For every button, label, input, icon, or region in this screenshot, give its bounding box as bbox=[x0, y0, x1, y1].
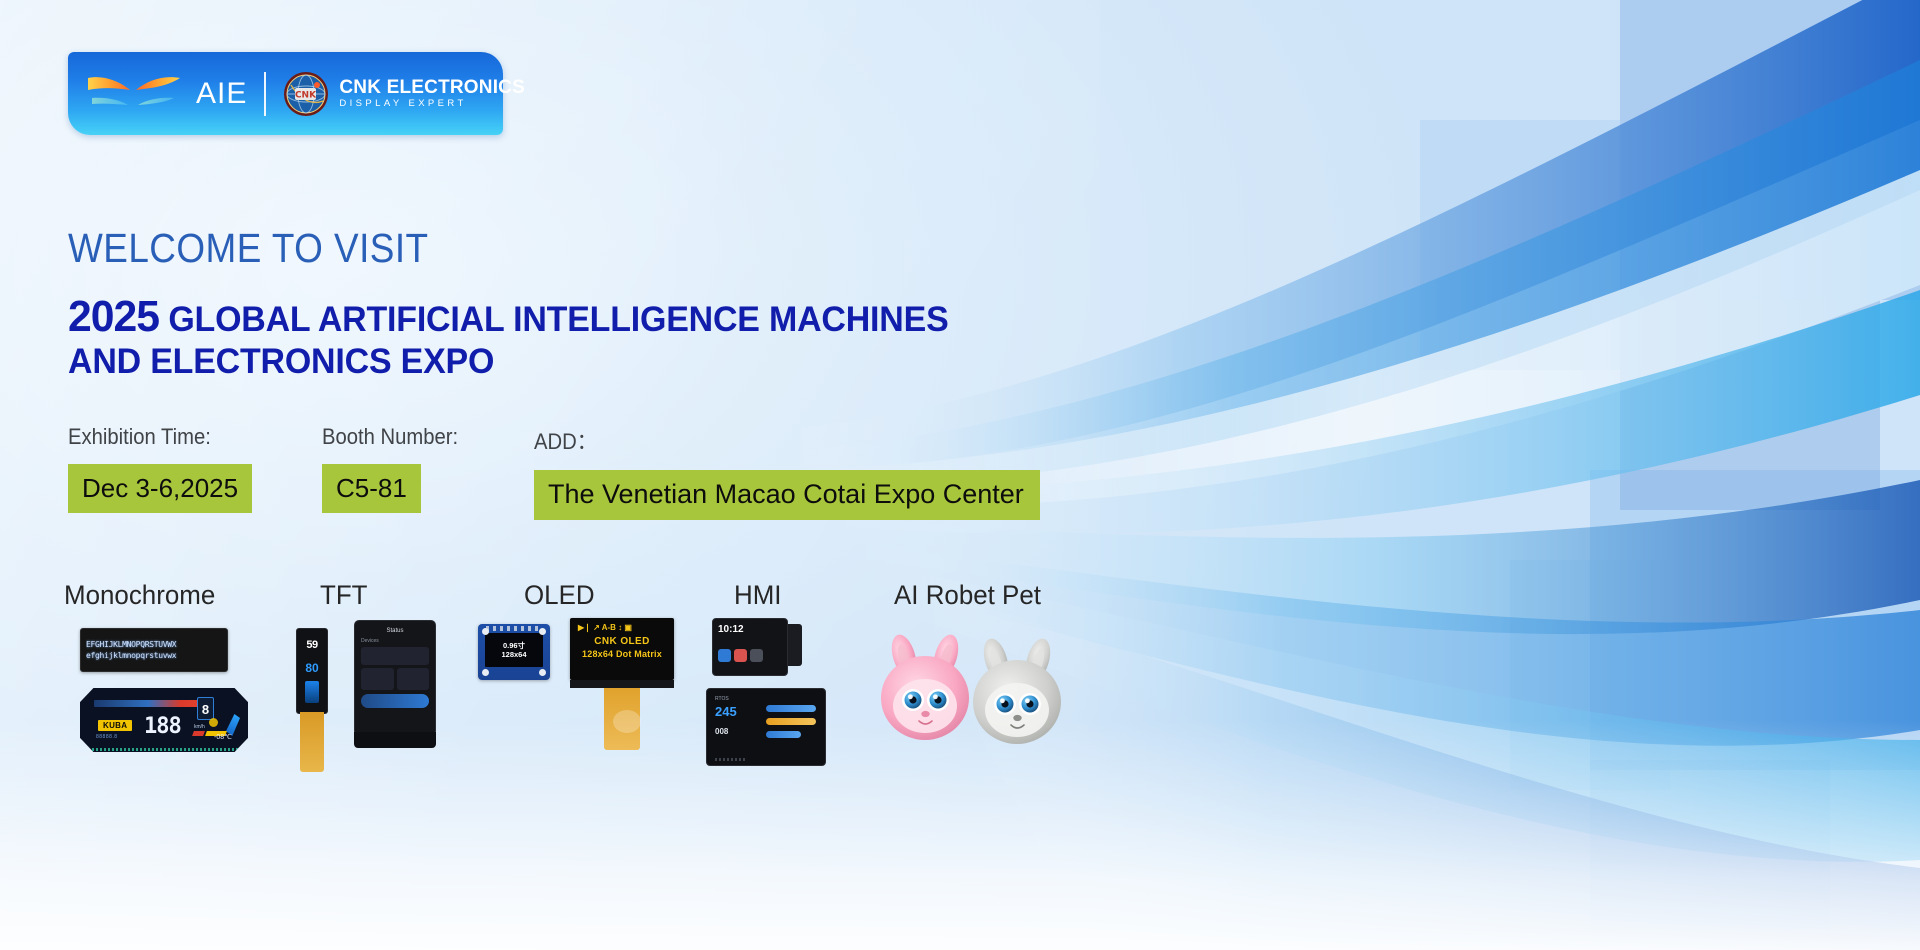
hmi-icon-row bbox=[718, 649, 782, 662]
hmi-tile-icon bbox=[718, 649, 731, 662]
cluster-tach-bar bbox=[94, 700, 214, 707]
tft-card bbox=[361, 647, 429, 665]
cnk-globe-icon: CNK bbox=[283, 71, 329, 117]
address-label: ADD： bbox=[534, 424, 999, 456]
event-title-line2: AND ELECTRONICS EXPO bbox=[68, 342, 949, 382]
hmi-clock: 10:12 bbox=[718, 624, 782, 635]
product-category-oled: OLED 0.96寸 128x64 ▶❘ ↗ A-B ↕ ▣ CNK OLED … bbox=[478, 580, 693, 611]
page-title: 2025 GLOBAL ARTIFICIAL INTELLIGENCE MACH… bbox=[68, 292, 976, 382]
tft-header: Status bbox=[361, 628, 429, 634]
event-info-row: Exhibition Time: Dec 3-6,2025 Booth Numb… bbox=[68, 424, 1088, 524]
tft-tile-2 bbox=[397, 668, 430, 690]
hmi-tile-icon bbox=[750, 649, 763, 662]
oled-mount-hole bbox=[482, 628, 489, 635]
cluster-unit: km/h bbox=[194, 724, 205, 730]
oled-mount-hole bbox=[539, 669, 546, 676]
hmi-slider-group bbox=[766, 705, 816, 744]
welcome-text: WELCOME TO VISIT bbox=[68, 225, 429, 272]
tft-bar-graphic bbox=[305, 681, 319, 703]
product-label-tft: TFT bbox=[320, 580, 460, 611]
address-value: The Venetian Macao Cotai Expo Center bbox=[534, 470, 1040, 520]
oled-pin-header bbox=[486, 626, 542, 631]
company-tagline: DISPLAY EXPERT bbox=[339, 99, 525, 109]
cluster-red-bar bbox=[192, 731, 205, 736]
hmi-tile-icon bbox=[734, 649, 747, 662]
oled-resolution-text: 128x64 bbox=[501, 650, 526, 659]
product-category-hmi: HMI 10:12 RTOS 245 008 bbox=[706, 580, 866, 611]
hmi-large-panel: RTOS 245 008 bbox=[706, 688, 826, 766]
monochrome-products: EFGHIJKLMNOPQRSTUVWX efghijklmnopqrstuvw… bbox=[80, 628, 228, 672]
tft-section-label: Devices bbox=[361, 638, 429, 644]
oled-yellow-panel: ▶❘ ↗ A-B ↕ ▣ CNK OLED 128x64 Dot Matrix bbox=[570, 618, 674, 680]
hmi-panel-side bbox=[788, 624, 802, 666]
pink-robot-pet bbox=[881, 632, 969, 740]
tft-tile-grid bbox=[361, 668, 429, 690]
exhibition-time-label: Exhibition Time: bbox=[68, 424, 237, 450]
oled-yellow-bezel bbox=[570, 680, 674, 688]
oled-breakout-board: 0.96寸 128x64 bbox=[478, 624, 550, 680]
cluster-pin-row bbox=[80, 748, 248, 751]
logo-bar: AIE CNK CNK ELECTRONICS DISPLAY EXPERT bbox=[68, 52, 503, 135]
company-name: CNK ELECTRONICS bbox=[339, 78, 525, 97]
logo-divider bbox=[264, 72, 266, 116]
product-category-monochrome: Monochrome EFGHIJKLMNOPQRSTUVWX efghijkl… bbox=[64, 580, 294, 611]
cluster-temperature: -08℃ bbox=[214, 733, 232, 741]
tft-value-mid: 80 bbox=[297, 661, 327, 675]
cluster-odometer: 88888.8 bbox=[96, 734, 118, 740]
oled-blue-screen: 0.96寸 128x64 bbox=[485, 633, 543, 667]
tft-bar-display: 59 80 bbox=[296, 628, 328, 714]
product-label-hmi: HMI bbox=[734, 580, 861, 611]
cnk-text-block: CNK ELECTRONICS DISPLAY EXPERT bbox=[339, 78, 525, 109]
lcd-line-1: EFGHIJKLMNOPQRSTUVWX bbox=[86, 639, 222, 650]
product-category-ai-robot-pet: AI Robet Pet bbox=[878, 580, 1118, 611]
cluster-indicator-icon bbox=[209, 718, 218, 727]
tft-tile-1 bbox=[361, 668, 394, 690]
tft-smart-home-display: Status Devices bbox=[354, 620, 436, 736]
motorcycle-cluster-lcd: KUBA 188 km/h 88888.8 8 -08℃ bbox=[80, 688, 248, 752]
tft-value-top: 59 bbox=[297, 639, 327, 651]
info-address: ADD： The Venetian Macao Cotai Expo Cente… bbox=[534, 424, 1040, 520]
ai-robot-pets-image bbox=[878, 622, 1088, 772]
oled-mount-hole bbox=[539, 628, 546, 635]
oled-brand-text: CNK OLED bbox=[576, 635, 668, 648]
product-showcase: Monochrome EFGHIJKLMNOPQRSTUVWX efghijkl… bbox=[60, 580, 1120, 900]
tft-bar-fpc-cable bbox=[300, 712, 324, 772]
oled-spec-text: 128x64 Dot Matrix bbox=[576, 648, 668, 660]
product-category-tft: TFT 59 80 Status Devices bbox=[296, 580, 466, 611]
oled-mount-hole bbox=[482, 669, 489, 676]
cluster-speed: 188 bbox=[144, 714, 181, 739]
oled-fpc-chip bbox=[613, 710, 641, 733]
cluster-brand: KUBA bbox=[98, 720, 132, 731]
hmi-small-panel: 10:12 bbox=[712, 618, 788, 676]
product-label-ai-robot-pet: AI Robet Pet bbox=[894, 580, 1109, 611]
cluster-gear: 8 bbox=[197, 697, 214, 720]
event-title-line1: GLOBAL ARTIFICIAL INTELLIGENCE MACHINES bbox=[168, 300, 948, 339]
tft-display-base bbox=[354, 732, 436, 748]
aie-eyes-icon bbox=[84, 66, 192, 122]
banner-stage: AIE CNK CNK ELECTRONICS DISPLAY EXPERT W… bbox=[0, 0, 1920, 950]
oled-size-text: 0.96寸 bbox=[503, 641, 525, 650]
aie-wordmark: AIE bbox=[196, 77, 247, 111]
grey-robot-pet bbox=[973, 636, 1061, 744]
hmi-slider bbox=[766, 718, 816, 725]
tft-action-pill bbox=[361, 694, 429, 708]
exhibition-time-value: Dec 3-6,2025 bbox=[68, 464, 252, 513]
hmi-slider bbox=[766, 705, 816, 712]
event-year: 2025 bbox=[68, 292, 159, 341]
info-exhibition-time: Exhibition Time: Dec 3-6,2025 bbox=[68, 424, 252, 513]
oled-yellow-fpc-cable bbox=[604, 688, 640, 750]
info-booth-number: Booth Number: C5-81 bbox=[322, 424, 470, 513]
hmi-slider bbox=[766, 731, 801, 738]
product-label-monochrome: Monochrome bbox=[64, 580, 285, 611]
booth-number-label: Booth Number: bbox=[322, 424, 458, 450]
hmi-connector-pins bbox=[715, 758, 745, 761]
character-lcd-module: EFGHIJKLMNOPQRSTUVWX efghijklmnopqrstuvw… bbox=[80, 628, 228, 672]
svg-text:CNK: CNK bbox=[295, 90, 317, 100]
booth-number-value: C5-81 bbox=[322, 464, 421, 513]
oled-status-icons: ▶❘ ↗ A-B ↕ ▣ bbox=[576, 623, 668, 632]
product-label-oled: OLED bbox=[524, 580, 686, 611]
hmi-panel-title: RTOS bbox=[715, 696, 817, 702]
lcd-line-2: efghijklmnopqrstuvwx bbox=[86, 650, 222, 661]
